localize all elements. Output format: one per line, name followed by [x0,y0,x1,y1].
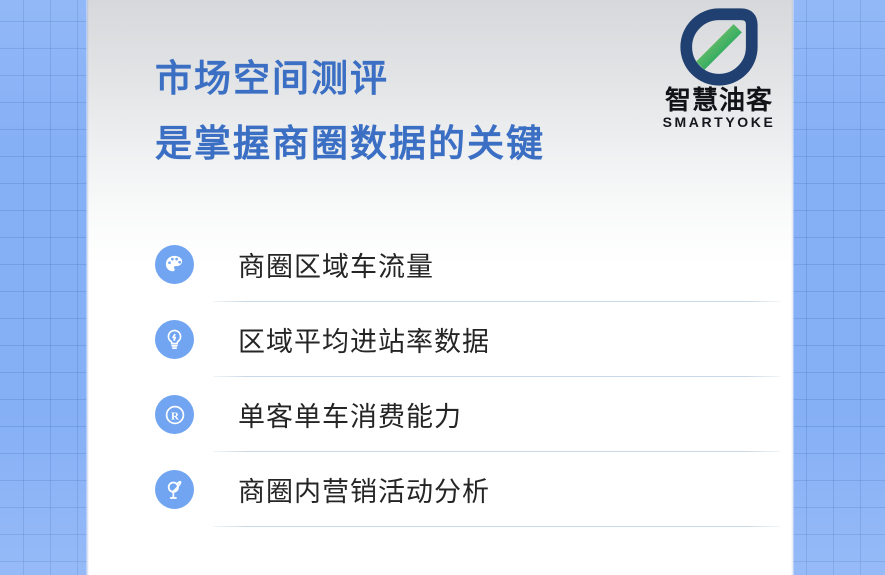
list-item-label: 区域平均进站率数据 [238,320,490,359]
list-item-label: 单客单车消费能力 [238,395,462,434]
card-left-edge-shadow [87,0,89,575]
list-item[interactable]: R 单客单车消费能力 [155,377,780,452]
list-item[interactable]: 区域平均进站率数据 [155,302,780,377]
headline-line-1: 市场空间测评 [155,60,715,97]
slide-root: 智慧油客 SMARTYOKE 市场空间测评 是掌握商圈数据的关键 商圈区域车流量 [0,0,885,575]
list-divider [213,526,780,527]
list-item-label: 商圈内营销活动分析 [238,470,490,509]
page-title: 市场空间测评 是掌握商圈数据的关键 [155,60,715,162]
list-item-label: 商圈区域车流量 [238,245,434,284]
globe-stand-icon [155,470,194,509]
lightbulb-bolt-icon [155,320,194,359]
list-item[interactable]: 商圈区域车流量 [155,227,780,302]
palette-icon [155,245,194,284]
list-item[interactable]: 商圈内营销活动分析 [155,452,780,527]
svg-text:R: R [171,410,180,422]
registered-mark-icon: R [155,395,194,434]
headline-line-2: 是掌握商圈数据的关键 [155,125,715,162]
content-card: 智慧油客 SMARTYOKE 市场空间测评 是掌握商圈数据的关键 商圈区域车流量 [87,0,793,575]
feature-list: 商圈区域车流量 区域平均进站率数据 [155,227,780,527]
